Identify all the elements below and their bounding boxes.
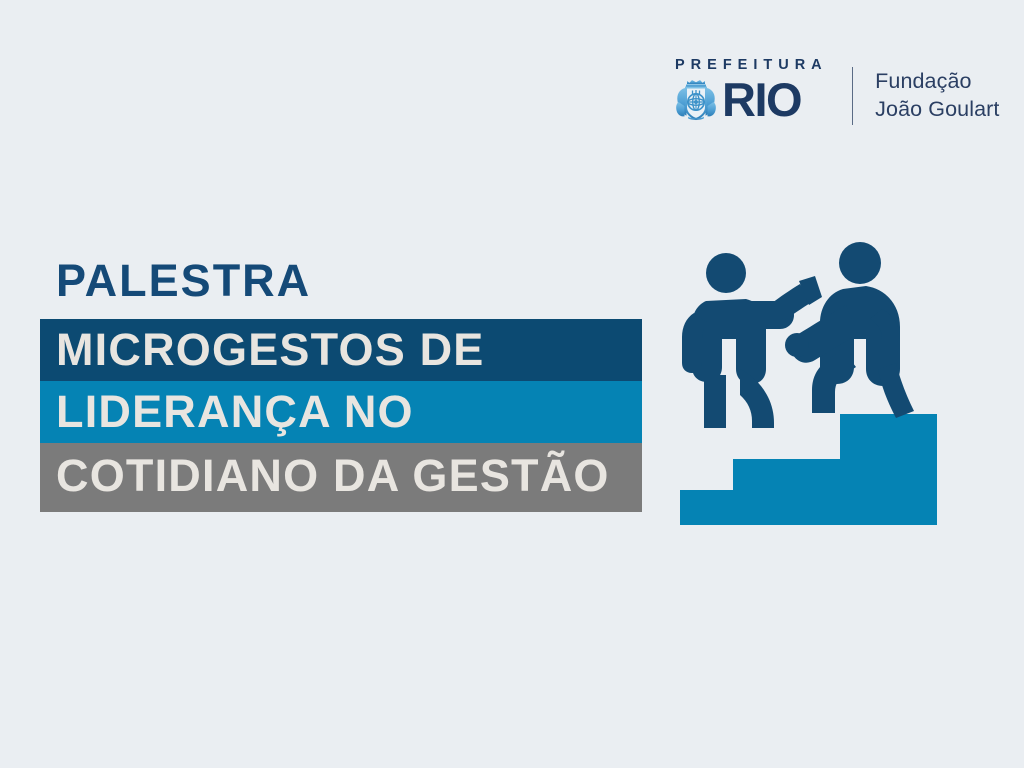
brand-logo-lockup: PREFEITURA [672,58,999,134]
person-reaching-down-icon [785,242,914,418]
poster-canvas: PREFEITURA [0,0,1024,768]
title-block: PALESTRA MICROGESTOS DE LIDERANÇA NO COT… [40,258,650,512]
fundacao-joao-goulart-logo: Fundação João Goulart [875,68,999,123]
logo-divider [852,67,854,125]
title-line-2: LIDERANÇA NO [40,381,642,443]
rio-coat-of-arms-icon [672,76,720,124]
event-type-kicker: PALESTRA [40,258,650,303]
title-line-1: MICROGESTOS DE [40,319,642,381]
rio-row: RIO [672,76,828,124]
fundacao-line-1: Fundação [875,68,999,96]
prefeitura-wordmark: PREFEITURA [675,58,828,73]
title-line-3: COTIDIANO DA GESTÃO [40,443,642,512]
prefeitura-rio-logo: PREFEITURA [672,58,828,134]
helping-hand-up-stairs-illustration [660,235,960,525]
fundacao-line-2: João Goulart [875,96,999,124]
rio-wordmark: RIO [722,78,801,121]
three-step-staircase [680,414,937,525]
